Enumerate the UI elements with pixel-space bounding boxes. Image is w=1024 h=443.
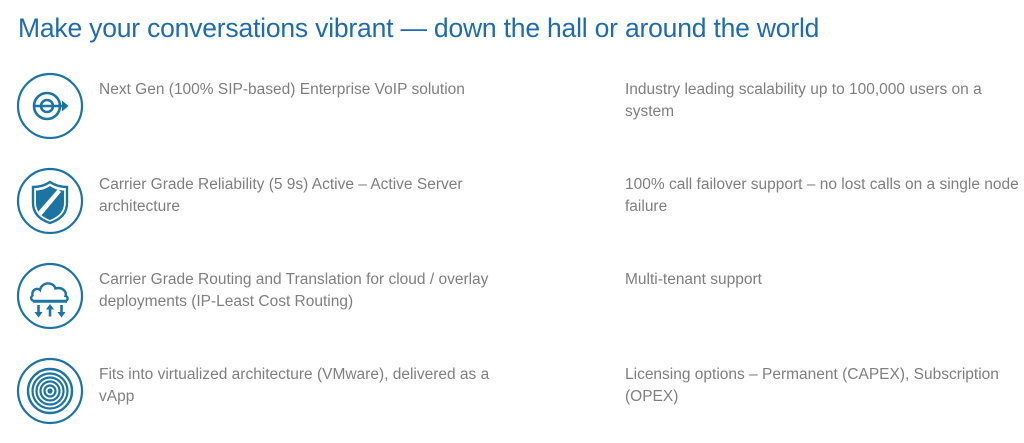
feature-text: Carrier Grade Reliability (5 9s) Active … — [99, 174, 509, 218]
shield-icon — [14, 165, 86, 237]
feature-text: 100% call failover support – no lost cal… — [625, 174, 1020, 218]
feature-item-carrier-grade-routing: Carrier Grade Routing and Translation fo… — [0, 252, 535, 347]
cloud-routing-arrows-icon — [14, 260, 86, 332]
feature-text: Fits into virtualized architecture (VMwa… — [99, 364, 509, 408]
feature-slide: Make your conversations vibrant — down t… — [0, 0, 1024, 443]
feature-text: Licensing options – Permanent (CAPEX), S… — [625, 364, 1020, 408]
feature-item-next-gen-sip: Next Gen (100% SIP-based) Enterprise VoI… — [0, 62, 535, 157]
feature-text: Carrier Grade Routing and Translation fo… — [99, 269, 509, 313]
feature-item-virtualized-architecture: Fits into virtualized architecture (VMwa… — [0, 347, 535, 442]
feature-grid: Next Gen (100% SIP-based) Enterprise VoI… — [0, 62, 1024, 442]
sip-routing-arrow-icon — [14, 70, 86, 142]
feature-item-licensing-options: Licensing options – Permanent (CAPEX), S… — [535, 347, 1024, 442]
feature-item-carrier-grade-reliability: Carrier Grade Reliability (5 9s) Active … — [0, 157, 535, 252]
concentric-circles-vapp-icon — [14, 355, 86, 427]
feature-item-multi-tenant: Multi-tenant support — [535, 252, 1024, 347]
feature-item-scalability: Industry leading scalability up to 100,0… — [535, 62, 1024, 157]
feature-item-call-failover: 100% call failover support – no lost cal… — [535, 157, 1024, 252]
page-title: Make your conversations vibrant — down t… — [18, 12, 819, 44]
feature-text: Industry leading scalability up to 100,0… — [625, 79, 1020, 123]
feature-text: Multi-tenant support — [625, 269, 1020, 291]
feature-text: Next Gen (100% SIP-based) Enterprise VoI… — [99, 79, 509, 101]
